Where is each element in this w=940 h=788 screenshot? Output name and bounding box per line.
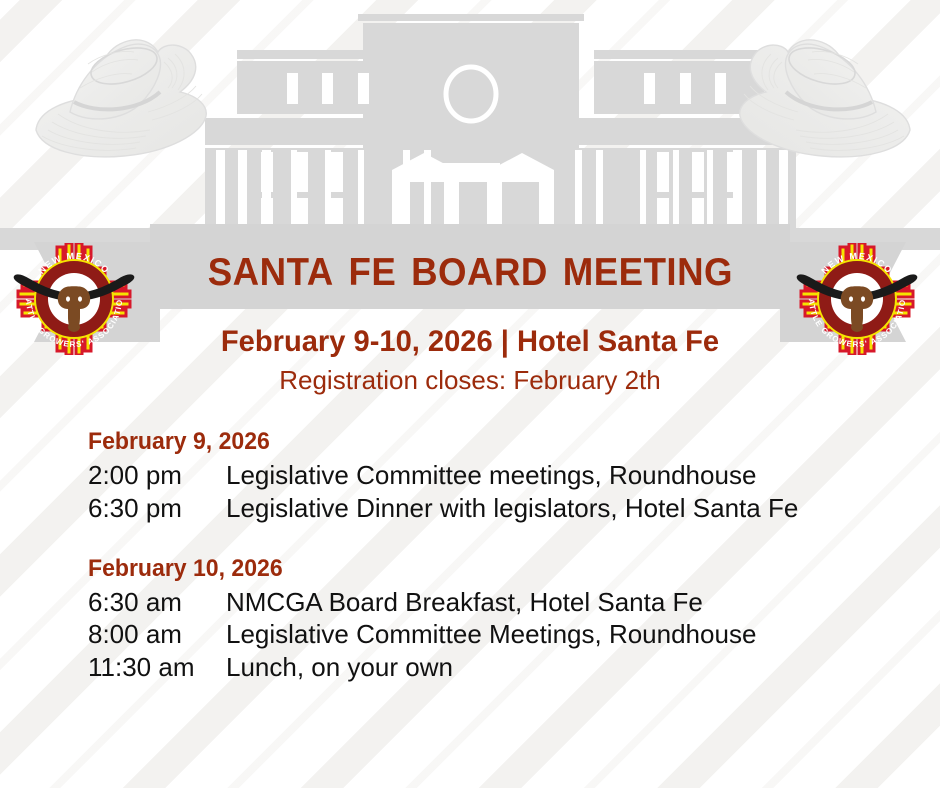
schedule-row: 6:30 pm Legislative Dinner with legislat… [88,492,928,525]
schedule-day-heading: February 10, 2026 [88,555,894,583]
schedule-day: February 10, 2026 6:30 am NMCGA Board Br… [88,555,928,684]
schedule-list: February 9, 2026 2:00 pm Legislative Com… [88,428,928,694]
schedule-description: Legislative Committee meetings, Roundhou… [226,459,756,492]
schedule-time: 8:00 am [88,618,226,651]
page-title-text: Santa Fe Board Meeting [207,239,732,294]
cowboy-hat-icon [733,18,918,188]
schedule-time: 6:30 pm [88,492,226,525]
schedule-time: 2:00 pm [88,459,226,492]
cowboy-hat-icon [28,18,213,188]
event-subtitle: February 9-10, 2026 | Hotel Santa Fe [14,325,926,359]
nmcga-logo: NEW MEXICO CATTLE GROWERS' ASSOCIATION [10,243,138,360]
schedule-description: Legislative Dinner with legislators, Hot… [226,492,798,525]
nmcga-logo: NEW MEXICO CATTLE GROWERS' ASSOCIATION [793,243,921,360]
schedule-row: 11:30 am Lunch, on your own [88,651,928,684]
page-title: Santa Fe Board Meeting [150,224,790,309]
schedule-row: 6:30 am NMCGA Board Breakfast, Hotel San… [88,586,928,619]
schedule-description: Legislative Committee Meetings, Roundhou… [226,618,756,651]
schedule-time: 6:30 am [88,586,226,619]
schedule-day-heading: February 9, 2026 [88,428,894,456]
schedule-time: 11:30 am [88,651,226,684]
schedule-spacer [88,535,928,555]
schedule-row: 2:00 pm Legislative Committee meetings, … [88,459,928,492]
schedule-description: NMCGA Board Breakfast, Hotel Santa Fe [226,586,703,619]
schedule-row: 8:00 am Legislative Committee Meetings, … [88,618,928,651]
registration-deadline: Registration closes: February 2th [0,365,940,396]
event-flyer: Santa Fe Board Meeting February 9-10, 20… [0,0,940,788]
schedule-day: February 9, 2026 2:00 pm Legislative Com… [88,428,928,525]
schedule-description: Lunch, on your own [226,651,453,684]
